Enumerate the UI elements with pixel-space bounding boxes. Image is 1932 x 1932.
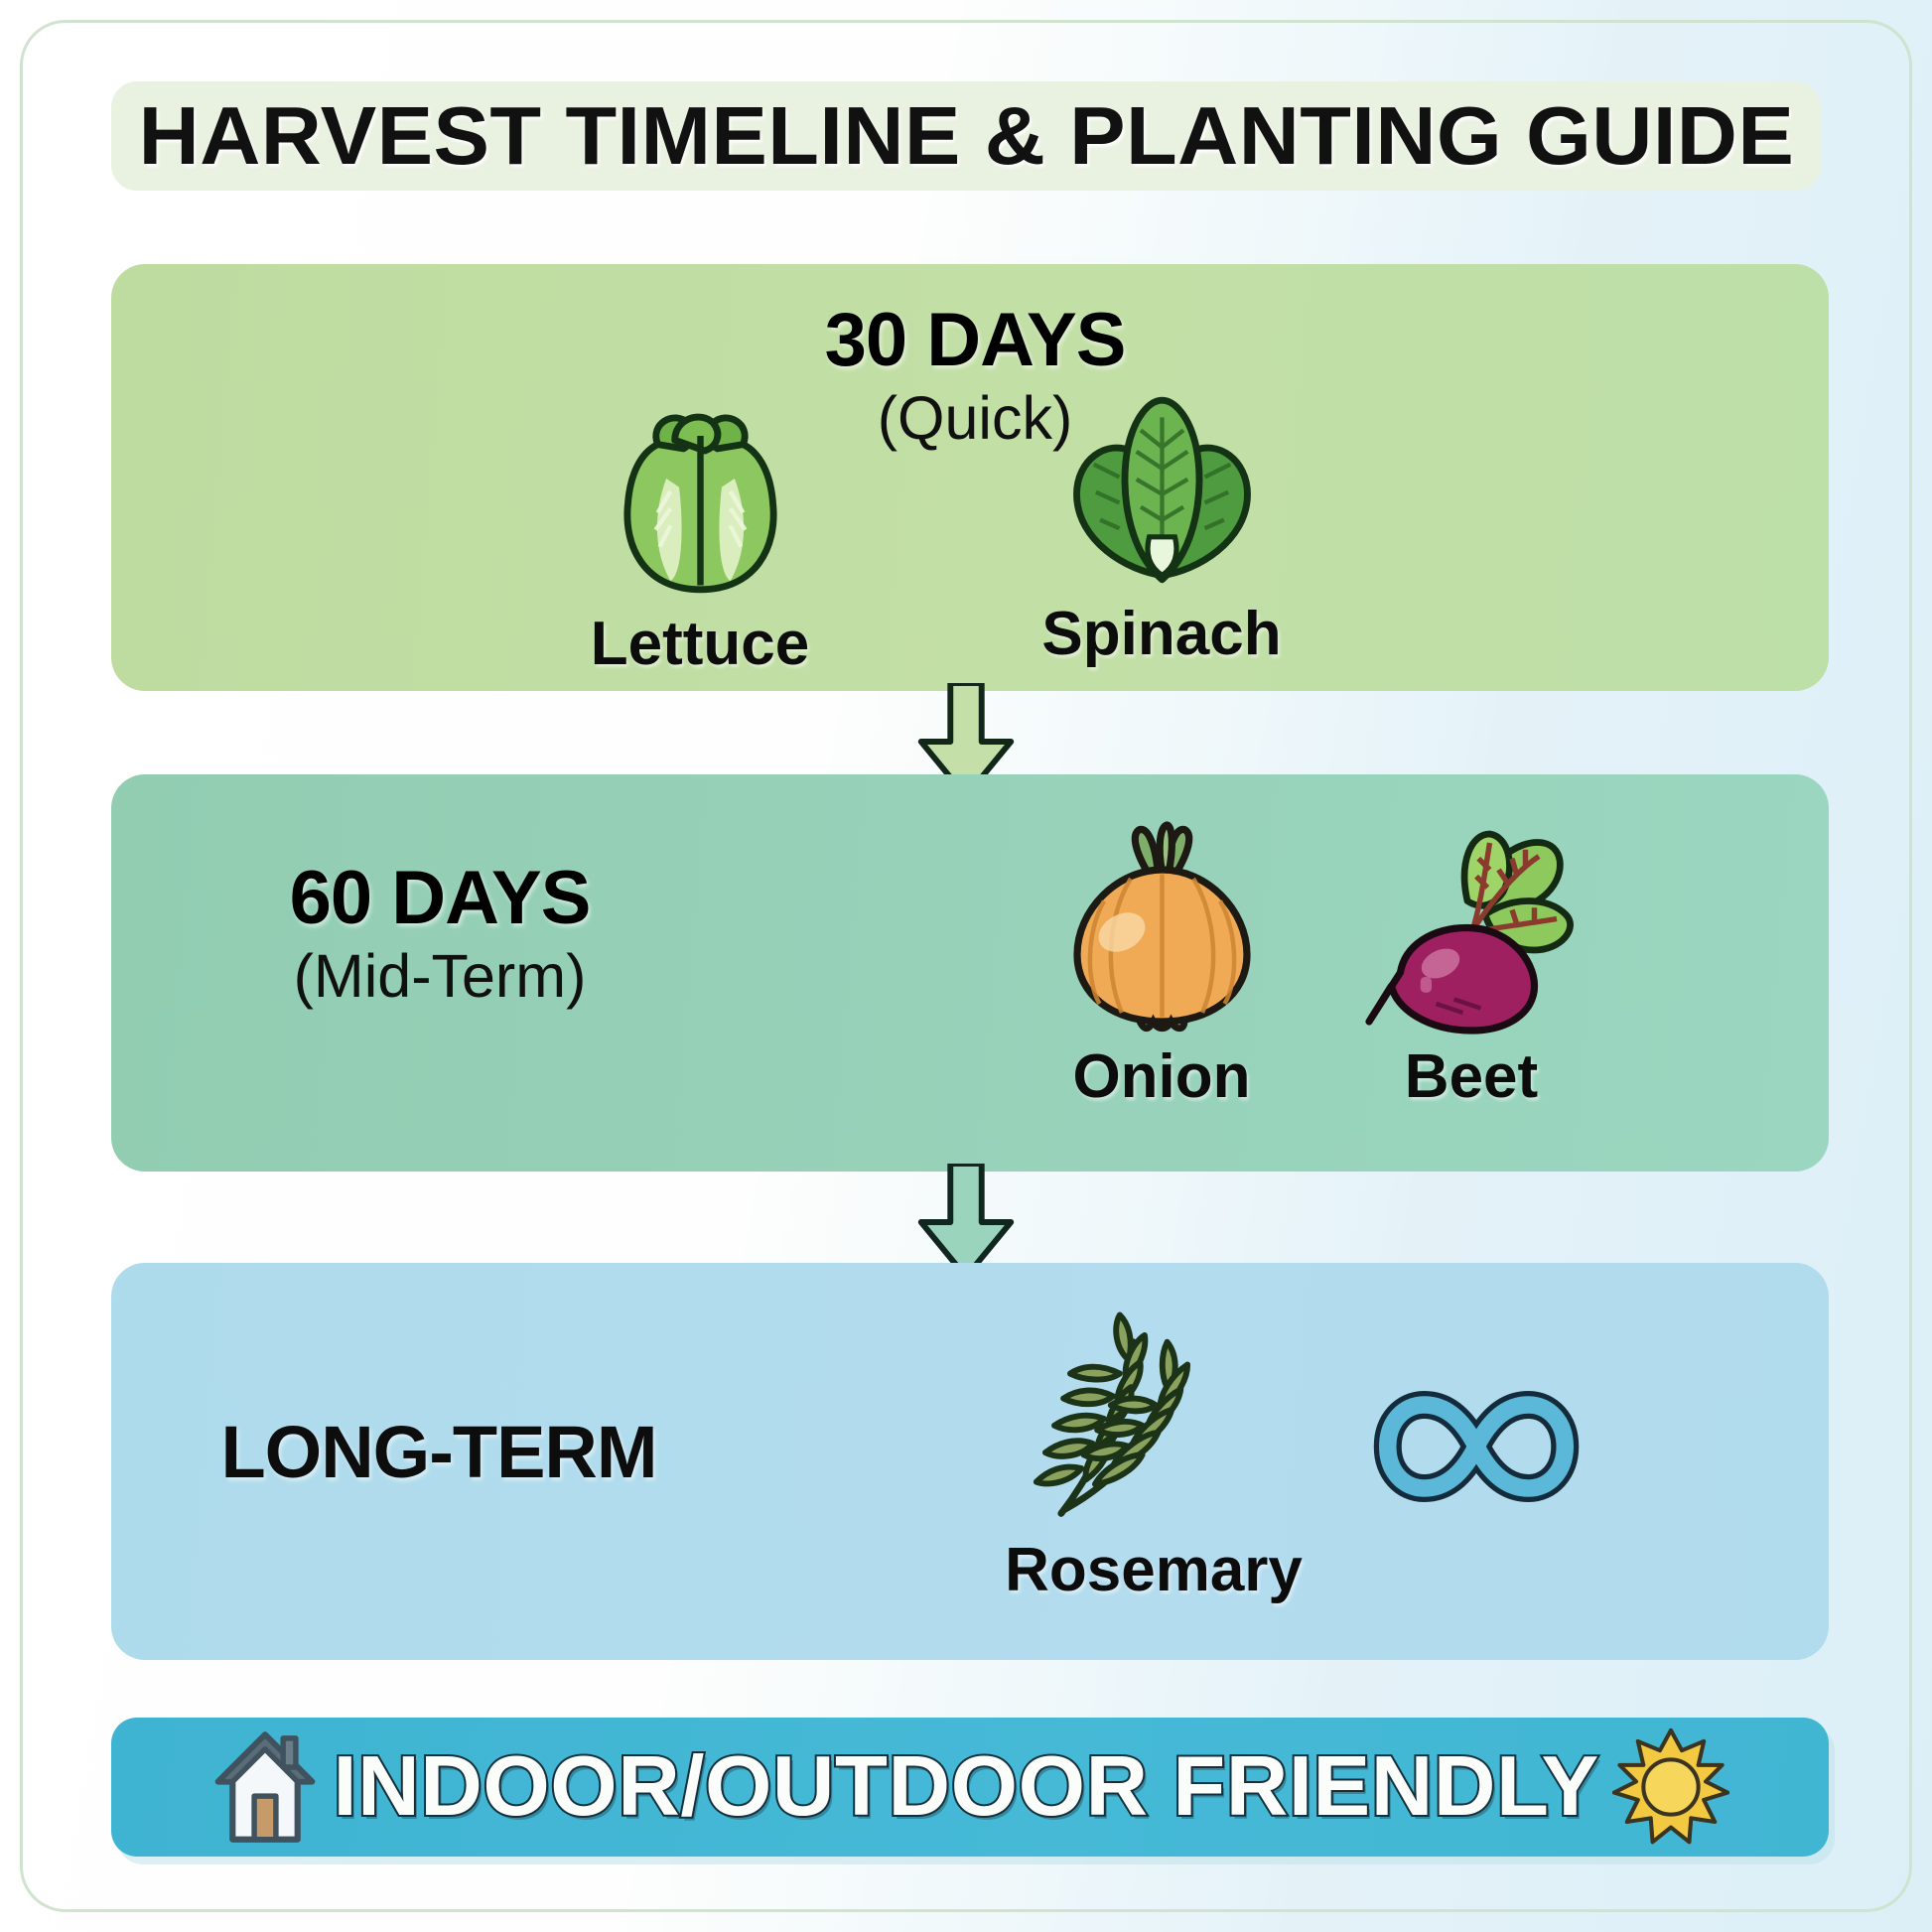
sun-icon	[1612, 1727, 1729, 1847]
row-quick-heading: 30 DAYS	[747, 302, 1203, 379]
title-band: HARVEST TIMELINE & PLANTING GUIDE	[111, 81, 1821, 191]
crop-lettuce[interactable]: Lettuce	[536, 393, 864, 679]
rosemary-icon	[1030, 1305, 1278, 1533]
spinach-icon	[1055, 383, 1269, 597]
infographic-poster: HARVEST TIMELINE & PLANTING GUIDE 30 DAY…	[0, 0, 1932, 1932]
row-mid-heading: 60 DAYS	[216, 860, 663, 937]
crop-beet-label: Beet	[1322, 1041, 1620, 1112]
row-long-heading: LONG-TERM	[161, 1410, 717, 1494]
crop-lettuce-label: Lettuce	[536, 609, 864, 679]
row-mid-heading-group: 60 DAYS (Mid-Term)	[216, 860, 663, 1010]
footer-text: INDOOR/OUTDOOR FRIENDLY	[333, 1738, 1598, 1836]
crop-perennial-infinity[interactable]	[1362, 1382, 1590, 1518]
crop-onion[interactable]: Onion	[1013, 816, 1311, 1112]
crop-rosemary-label: Rosemary	[965, 1535, 1342, 1605]
row-long-heading-group: LONG-TERM	[161, 1410, 717, 1494]
crop-beet[interactable]: Beet	[1322, 816, 1620, 1112]
crop-rosemary[interactable]: Rosemary	[965, 1305, 1342, 1605]
onion-icon	[1050, 816, 1274, 1039]
lettuce-icon	[594, 393, 807, 607]
crop-spinach-label: Spinach	[993, 599, 1330, 669]
infinity-icon	[1372, 1382, 1581, 1511]
page-title: HARVEST TIMELINE & PLANTING GUIDE	[138, 88, 1794, 184]
timeline-row-long: LONG-TERM	[111, 1263, 1829, 1660]
house-icon	[210, 1727, 320, 1847]
timeline-row-quick: 30 DAYS (Quick)	[111, 264, 1829, 691]
timeline-row-mid: 60 DAYS (Mid-Term)	[111, 774, 1829, 1172]
footer-banner: INDOOR/OUTDOOR FRIENDLY	[111, 1718, 1829, 1857]
crop-spinach[interactable]: Spinach	[993, 383, 1330, 669]
beet-icon	[1360, 816, 1584, 1039]
row-mid-subheading: (Mid-Term)	[216, 943, 663, 1010]
crop-onion-label: Onion	[1013, 1041, 1311, 1112]
